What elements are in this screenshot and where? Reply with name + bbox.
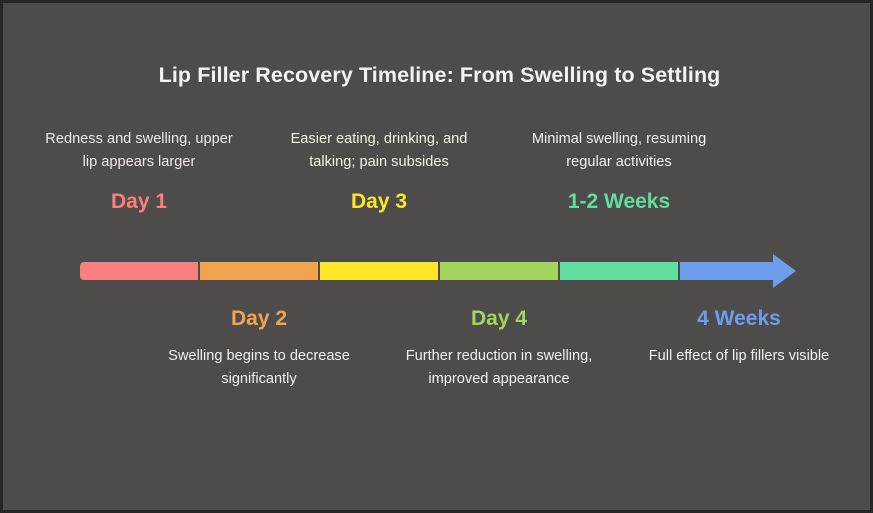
timeline-segment-day-3 [320,262,438,280]
milestone-label: Day 1 [39,189,239,215]
milestone-day-3: Easier eating, drinking, and talking; pa… [279,128,479,215]
milestone-day-2: Day 2 Swelling begins to decrease signif… [159,306,359,390]
milestone-description: Full effect of lip fillers visible [639,345,839,368]
milestone-description: Swelling begins to decrease significantl… [159,345,359,390]
timeline-segment-day-2 [200,262,318,280]
milestone-description: Easier eating, drinking, and talking; pa… [279,128,479,173]
timeline-segment-day-4 [440,262,558,280]
milestone-label: 4 Weeks [639,306,839,332]
milestone-label: 1-2 Weeks [519,189,719,215]
timeline-segment-day-1 [80,262,198,280]
infographic-canvas: Lip Filler Recovery Timeline: From Swell… [0,0,873,513]
timeline-segment-weeks-4 [680,262,773,280]
milestone-day-4: Day 4 Further reduction in swelling, imp… [399,306,599,390]
page-title: Lip Filler Recovery Timeline: From Swell… [3,63,873,88]
milestone-description: Further reduction in swelling, improved … [399,345,599,390]
milestone-label: Day 3 [279,189,479,215]
milestone-description: Redness and swelling, upper lip appears … [39,128,239,173]
milestone-label: Day 4 [399,306,599,332]
timeline-bar [80,262,796,280]
milestone-day-1: Redness and swelling, upper lip appears … [39,128,239,215]
timeline-segment-weeks-1-2 [560,262,678,280]
milestone-label: Day 2 [159,306,359,332]
milestone-weeks-4: 4 Weeks Full effect of lip fillers visib… [639,306,839,368]
timeline-arrow-icon [773,254,796,288]
milestone-weeks-1-2: Minimal swelling, resuming regular activ… [519,128,719,215]
milestone-description: Minimal swelling, resuming regular activ… [519,128,719,173]
